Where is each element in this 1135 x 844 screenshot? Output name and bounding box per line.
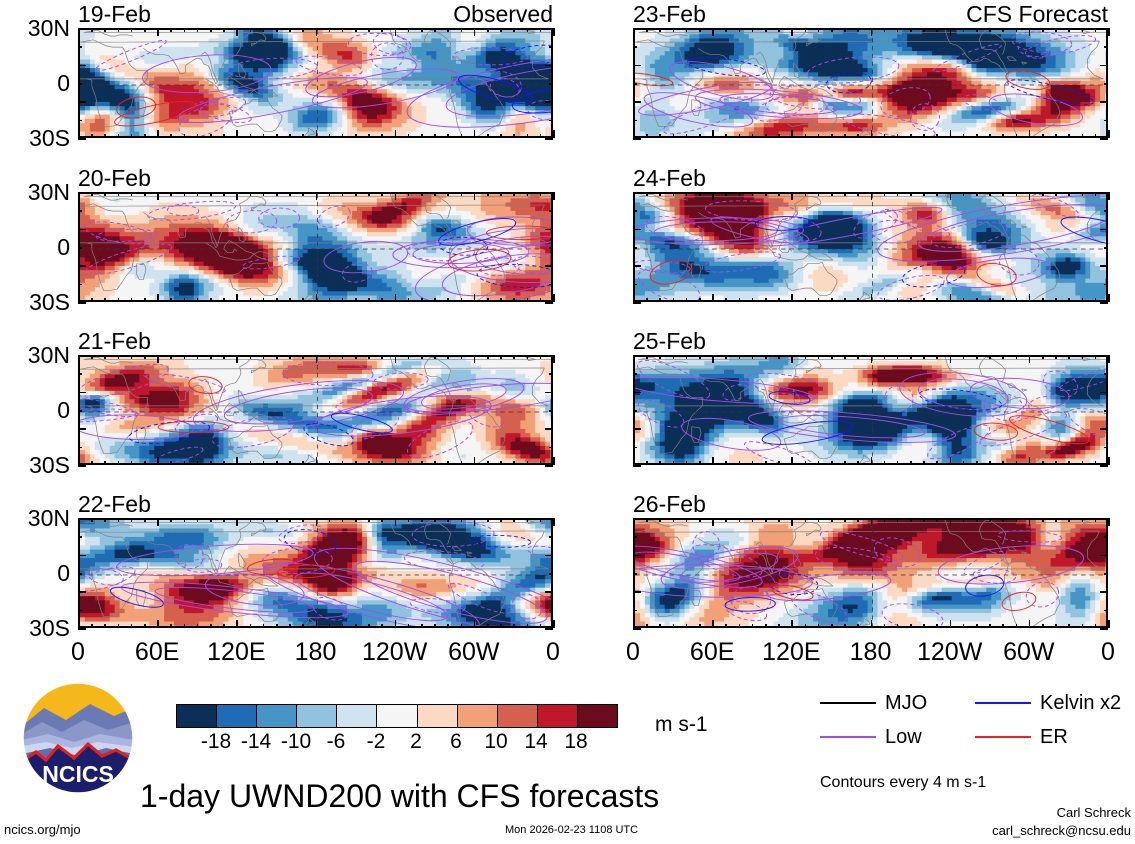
x-tick-60w-col1: 60W: [1003, 640, 1054, 665]
x-tick-120e-col1: 120E: [762, 640, 820, 665]
panel-date-label: 20-Feb: [78, 167, 151, 190]
x-tick-120e-col0: 120E: [207, 640, 265, 665]
footer-site-link[interactable]: ncics.org/mjo: [4, 823, 81, 836]
colorbar-tick--14: -14: [241, 731, 271, 752]
y-axis-label-30n: 30N: [0, 344, 70, 367]
legend-item-kelvin: Kelvin x2: [975, 693, 1121, 713]
x-tick-120w-col1: 120W: [917, 640, 982, 665]
map-field-22-feb: [78, 518, 553, 628]
colorbar-tick-10: 10: [484, 731, 507, 752]
ncics-logo: NCICS: [22, 682, 134, 794]
ncics-logo-graphic: NCICS: [22, 682, 134, 794]
legend-line-mjo: [820, 702, 876, 704]
map-field-21-feb: [78, 355, 553, 465]
figure-main-title: 1-day UWND200 with CFS forecasts: [140, 780, 659, 812]
map-field-23-feb: [633, 28, 1108, 138]
legend-label-er: ER: [1040, 727, 1068, 747]
colorbar-swatch-9: [538, 705, 578, 727]
x-tick-180-col1: 180: [850, 640, 892, 665]
y-axis-label-30n: 30N: [0, 181, 70, 204]
colorbar-swatch-1: [217, 705, 257, 727]
y-axis-label-0: 0: [0, 562, 70, 585]
panel-date-label: 21-Feb: [78, 330, 151, 353]
legend-item-low: Low: [820, 727, 922, 747]
y-axis-label-30s: 30S: [0, 454, 70, 477]
column-header-cfs-forecast: CFS Forecast: [966, 3, 1108, 26]
x-tick-0-col0: 0: [546, 640, 560, 665]
colorbar-tick-6: 6: [450, 731, 462, 752]
footer-author: Carl Schreck: [1057, 805, 1131, 820]
x-tick-0-col1: 0: [626, 640, 640, 665]
x-tick-60e-col1: 60E: [690, 640, 734, 665]
y-axis-label-0: 0: [0, 236, 70, 259]
colorbar: [176, 704, 618, 728]
colorbar-tick-2: 2: [410, 731, 422, 752]
column-header-observed: Observed: [453, 3, 553, 26]
x-tick-60e-col0: 60E: [135, 640, 179, 665]
legend-line-kelvin: [975, 702, 1031, 704]
colorbar-tick--18: -18: [201, 731, 231, 752]
legend-item-er: ER: [975, 727, 1068, 747]
map-panel-23-feb: 23-FebCFS Forecast: [633, 3, 1108, 140]
colorbar-tick--10: -10: [281, 731, 311, 752]
map-field-24-feb: [633, 192, 1108, 302]
panel-date-label: 22-Feb: [78, 493, 151, 516]
colorbar-tick--6: -6: [327, 731, 346, 752]
colorbar-tick--2: -2: [367, 731, 386, 752]
map-panel-24-feb: 24-Feb: [633, 167, 1108, 304]
footer-timestamp: Mon 2026-02-23 1108 UTC: [505, 825, 638, 836]
legend-line-er: [975, 736, 1031, 738]
legend-label-low: Low: [885, 727, 922, 747]
colorbar-swatch-8: [498, 705, 538, 727]
panel-date-label: 24-Feb: [633, 167, 706, 190]
map-panel-26-feb: 26-Feb: [633, 493, 1108, 630]
y-axis-label-30n: 30N: [0, 17, 70, 40]
panel-date-label: 19-Feb: [78, 3, 151, 26]
y-axis-label-30n: 30N: [0, 507, 70, 530]
ncics-logo-text: NCICS: [42, 761, 114, 787]
map-panel-20-feb: 20-Feb: [78, 167, 553, 304]
panel-date-label: 23-Feb: [633, 3, 706, 26]
x-tick-120w-col0: 120W: [362, 640, 427, 665]
colorbar-tick-14: 14: [524, 731, 547, 752]
colorbar-unit-label: m s-1: [655, 714, 708, 735]
y-axis-label-0: 0: [0, 72, 70, 95]
panel-date-label: 26-Feb: [633, 493, 706, 516]
colorbar-swatch-5: [377, 705, 417, 727]
y-axis-label-30s: 30S: [0, 127, 70, 150]
map-field-19-feb: [78, 28, 553, 138]
x-tick-180-col0: 180: [295, 640, 337, 665]
colorbar-swatch-6: [418, 705, 458, 727]
y-axis-label-30s: 30S: [0, 291, 70, 314]
colorbar-swatch-3: [297, 705, 337, 727]
map-panel-19-feb: 19-FebObserved: [78, 3, 553, 140]
y-axis-label-0: 0: [0, 399, 70, 422]
colorbar-swatch-10: [578, 705, 617, 727]
map-field-20-feb: [78, 192, 553, 302]
map-panel-25-feb: 25-Feb: [633, 330, 1108, 467]
y-axis-label-30s: 30S: [0, 617, 70, 640]
map-panel-21-feb: 21-Feb: [78, 330, 553, 467]
x-tick-0-col1: 0: [1101, 640, 1115, 665]
colorbar-swatch-2: [257, 705, 297, 727]
legend-item-mjo: MJO: [820, 693, 927, 713]
colorbar-tick-18: 18: [564, 731, 587, 752]
map-panel-22-feb: 22-Feb: [78, 493, 553, 630]
colorbar-swatch-4: [337, 705, 377, 727]
footer-email[interactable]: carl_schreck@ncsu.edu: [992, 823, 1131, 838]
panel-date-label: 25-Feb: [633, 330, 706, 353]
colorbar-swatch-7: [458, 705, 498, 727]
map-field-25-feb: [633, 355, 1108, 465]
legend-label-kelvin: Kelvin x2: [1040, 693, 1121, 713]
x-tick-60w-col0: 60W: [448, 640, 499, 665]
x-tick-0-col0: 0: [71, 640, 85, 665]
map-field-26-feb: [633, 518, 1108, 628]
colorbar-swatch-0: [177, 705, 217, 727]
legend-line-low: [820, 736, 876, 738]
contour-interval-note: Contours every 4 m s-1: [820, 775, 986, 791]
legend-label-mjo: MJO: [885, 693, 927, 713]
